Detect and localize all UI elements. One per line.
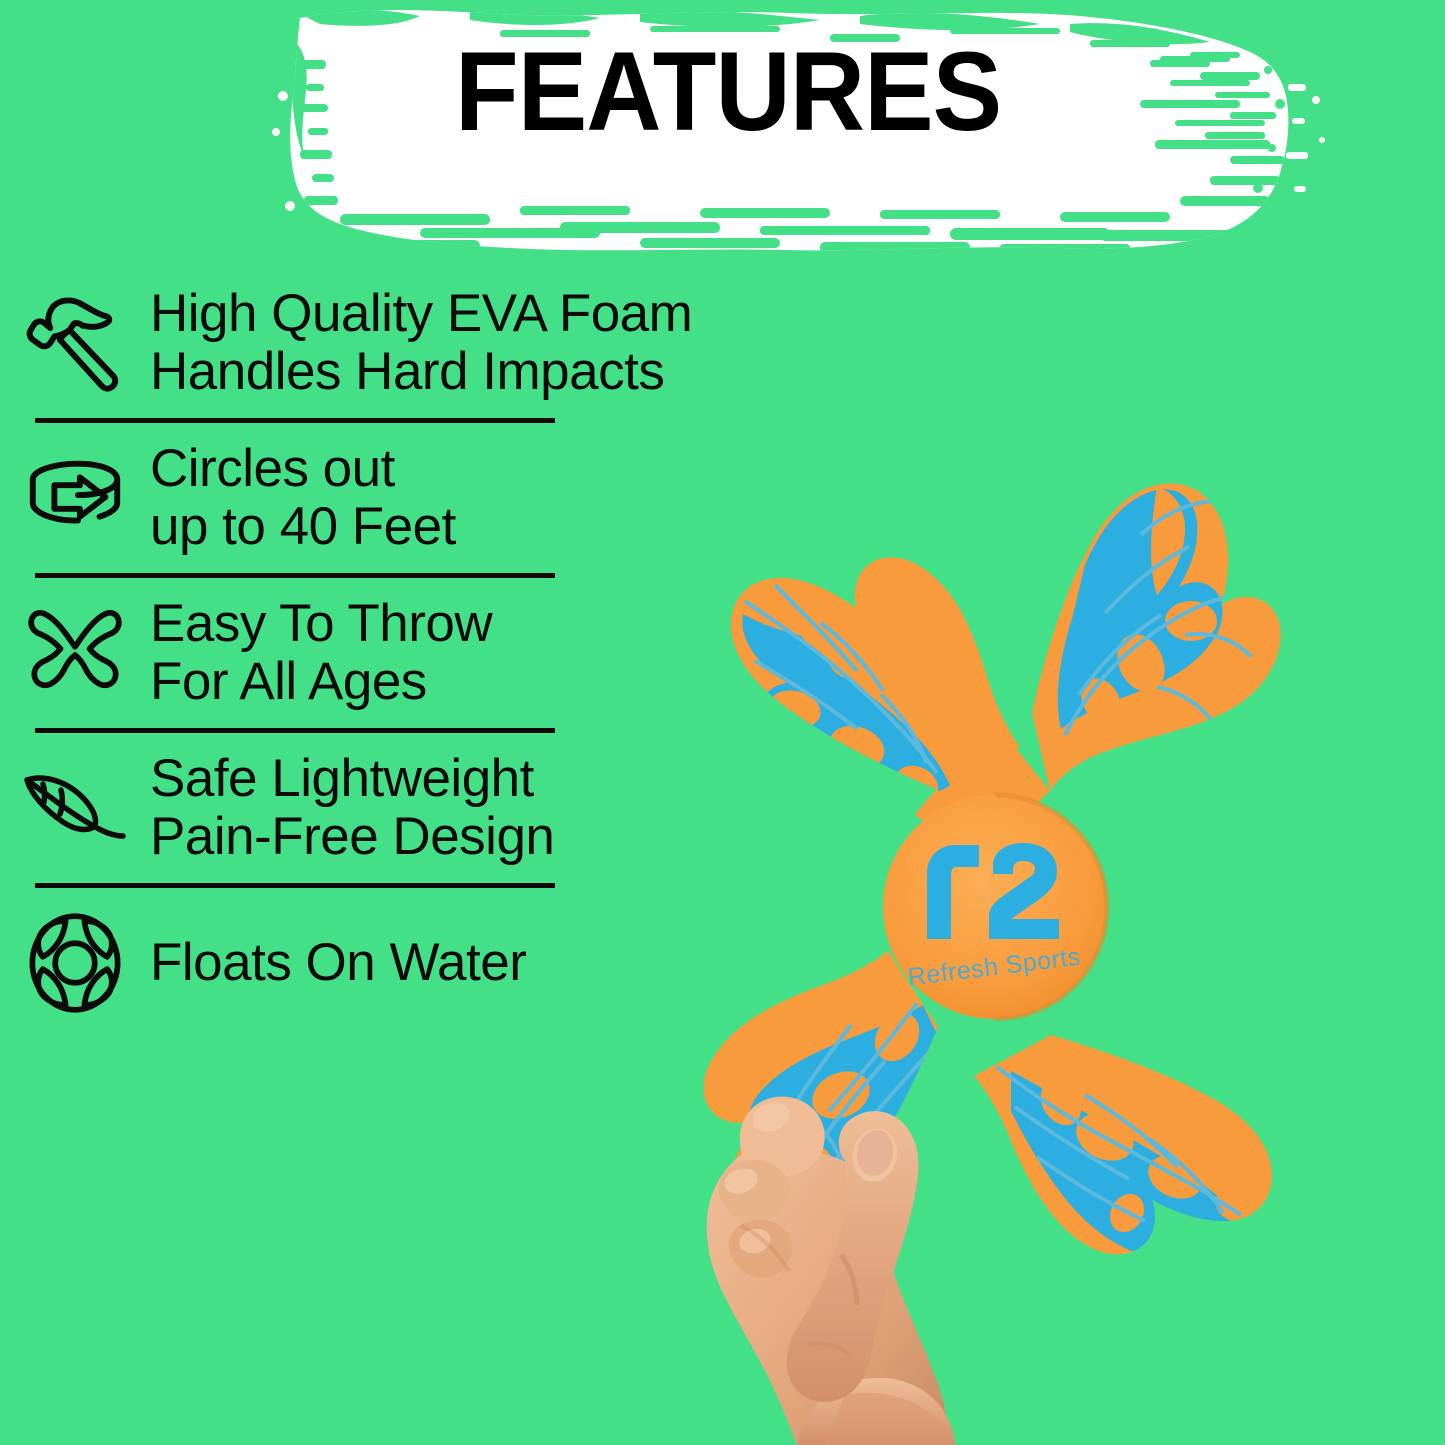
circular-flight-arrow-icon [0,433,150,563]
header-banner: FEATURES [0,0,1445,268]
feature-label-2: Circles out up to 40 Feet [150,440,456,557]
feature-label-3: Easy To Throw For All Ages [150,595,492,712]
feature-label-5: Floats On Water [150,934,526,992]
product-feature-infographic: FEATURES High Quality EVA Foam Handles H… [0,0,1445,1445]
boomerang-and-hand-graphic: Refresh Sports [545,395,1445,1445]
life-ring-icon [0,898,150,1028]
page-title: FEATURES [51,36,1395,148]
hammer-icon [0,278,150,408]
feature-label-4: Safe Lightweight Pain-Free Design [150,750,554,867]
feather-icon [0,743,150,873]
feature-label-1: High Quality EVA Foam Handles Hard Impac… [150,285,692,402]
product-photo: Refresh Sports [545,395,1445,1445]
boomerang-x-icon [0,588,150,718]
